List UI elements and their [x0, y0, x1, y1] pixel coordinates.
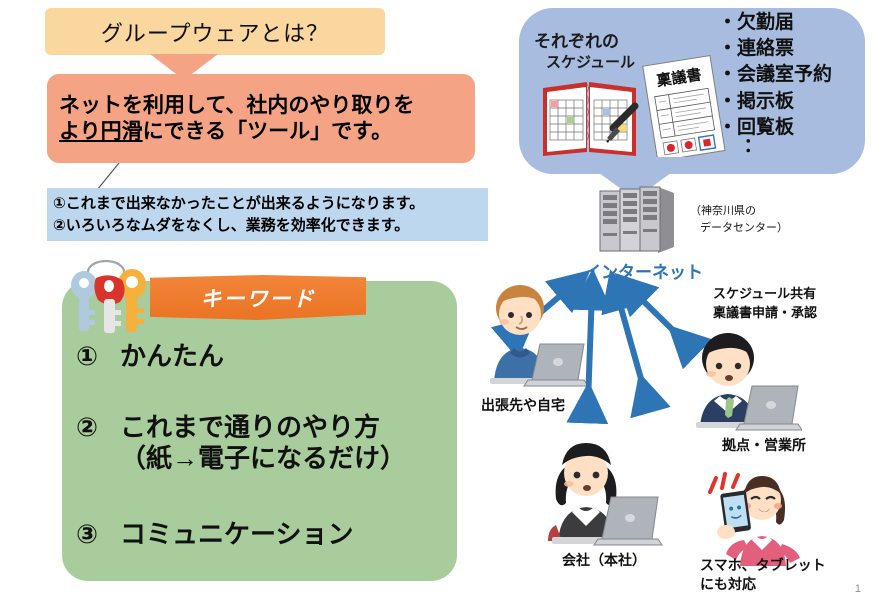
schedule-label-line-1: それぞれの [534, 27, 619, 52]
schedule-book-icon [537, 72, 642, 160]
person-with-smartphone-illustration [700, 470, 804, 570]
benefit-item: ①これまで出来なかったことが出来るようになります。 [53, 193, 488, 215]
benefit-item: ②いろいろなムダをなくし、業務を効率化できます。 [53, 215, 488, 237]
schedule-label-line-2: スケジュール [546, 51, 635, 72]
keyword-number: ① [76, 341, 120, 372]
arrow-to-office [616, 290, 645, 393]
title-banner: グループウェアとは？ [45, 8, 385, 55]
arrow-to-mobile [630, 288, 683, 340]
datacenter-label-line-1: （神奈川県の [690, 203, 788, 220]
person-label-home: 出張先や自宅 [481, 396, 565, 415]
person-label-mobile: スマホ、タブレット にも対応 [700, 556, 826, 594]
keyword-item-2: ② これまで通りのやり方 （紙→電子になるだけ） [76, 412, 406, 473]
arrow-to-hq [588, 290, 592, 403]
server-rack-icon [596, 183, 680, 255]
person-at-home-illustration [474, 282, 586, 392]
feature-item: ・欠勤届 [718, 10, 868, 36]
datacenter-label-line-2: データセンター） [690, 220, 788, 237]
definition-line-2-rest: にできる「ツール」です。 [143, 120, 392, 143]
feature-list-ellipsis: ︓ [718, 143, 770, 155]
datacenter-label: （神奈川県の データセンター） [690, 203, 788, 236]
feature-item: ・掲示板 [718, 89, 868, 115]
keyword-item-3: ③ コミュニケーション [76, 519, 353, 550]
usage-label: スケジュール共有 稟議書申請・承認 [713, 285, 817, 323]
definition-line-1: ネットを利用して、社内のやり取りを [59, 93, 475, 119]
person-at-headquarters-illustration [540, 437, 664, 549]
leader-line [95, 163, 121, 191]
keyword-label: これまで通りのやり方 （紙→電子になるだけ） [120, 412, 406, 473]
keyword-ribbon-label: キーワード [201, 283, 316, 313]
page-number: 1 [855, 583, 861, 595]
definition-emphasis: より円滑 [59, 120, 143, 143]
keyword-label: かんたん [120, 341, 224, 372]
keyword-ribbon-banner: キーワード [150, 275, 366, 320]
keyword-number: ② [76, 412, 120, 443]
keyword-item-1: ① かんたん [76, 341, 224, 372]
definition-line-2: より円滑にできる「ツール」です。 [59, 119, 475, 145]
person-label-branch-office: 拠点・営業所 [722, 436, 806, 455]
feature-item: ・連絡票 [718, 36, 868, 62]
benefits-box: ①これまで出来なかったことが出来るようになります。 ②いろいろなムダをなくし、業… [47, 188, 488, 241]
callout-tail-triangle [150, 54, 218, 80]
page-title: グループウェアとは？ [101, 16, 329, 48]
slide-canvas: グループウェアとは？ ネットを利用して、社内のやり取りを より円滑にできる「ツー… [0, 0, 873, 601]
usage-line-2: 稟議書申請・承認 [713, 304, 817, 323]
usage-line-1: スケジュール共有 [713, 285, 817, 304]
feature-item: ・会議室予約 [718, 62, 868, 88]
keyword-number: ③ [76, 519, 120, 550]
person-at-branch-office-illustration [684, 330, 802, 434]
keyword-label: コミュニケーション [120, 519, 353, 550]
definition-callout-box: ネットを利用して、社内のやり取りを より円滑にできる「ツール」です。 [47, 74, 475, 163]
person-label-headquarters: 会社（本社） [562, 551, 646, 570]
emphasis-lines-icon [710, 474, 738, 492]
groupware-feature-list: ・欠勤届 ・連絡票 ・会議室予約 ・掲示板 ・回覧板 ︓ [718, 10, 868, 155]
